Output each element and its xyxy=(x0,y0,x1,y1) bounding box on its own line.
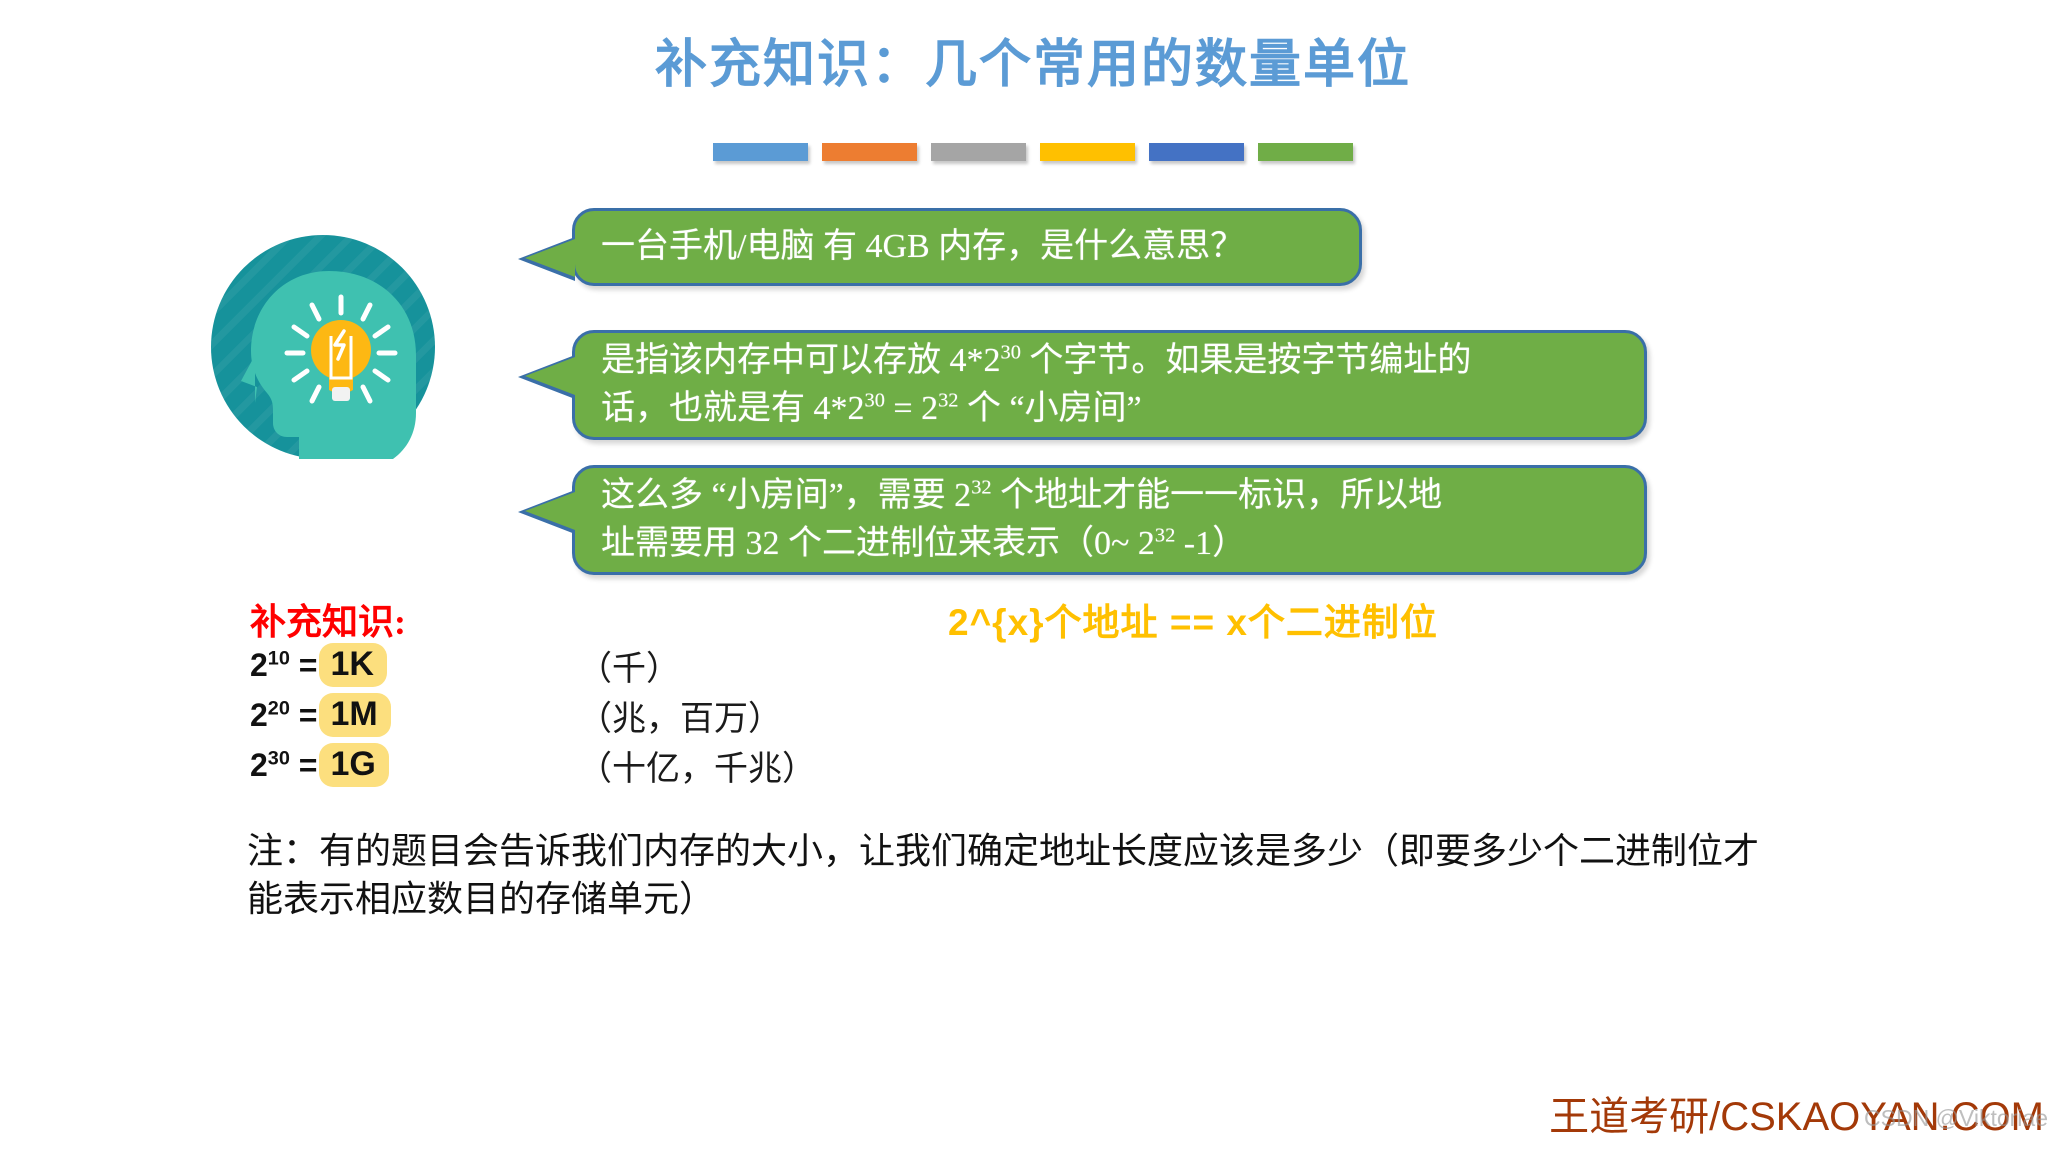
bubble-tail-fill xyxy=(525,239,575,277)
title-bar-orange xyxy=(822,143,917,161)
speech-bubble-answer-2: 这么多 “小房间”，需要 232 个地址才能一一标识，所以地 址需要用 32 个… xyxy=(572,465,1647,575)
power-value-highlighted: 1M xyxy=(319,693,390,737)
power-note: （兆，百万） xyxy=(578,691,782,740)
speech-bubble-answer-1: 是指该内存中可以存放 4*230 个字节。如果是按字节编址的 话，也就是有 4*… xyxy=(572,330,1647,440)
bubble-3-line-1: 这么多 “小房间”，需要 232 个地址才能一一标识，所以地 xyxy=(601,472,1622,520)
bubble-3-line-2-exponent: 32 xyxy=(1155,525,1175,547)
bubble-2-line-2-part-a: 话，也就是有 4*2 xyxy=(601,390,865,427)
power-equals: = xyxy=(290,697,318,733)
bubble-2-line-1-part-b: 个字节。如果是按字节编址的 xyxy=(1021,342,1472,379)
bubble-tail-fill xyxy=(525,357,575,395)
power-base: 2 xyxy=(250,747,268,783)
speech-bubble-question: 一台手机/电脑 有 4GB 内存，是什么意思？ xyxy=(572,208,1362,286)
bubble-2-line-2-exponent-1: 30 xyxy=(865,390,885,412)
address-bits-formula: 2^{x}个地址 == x个二进制位 xyxy=(948,592,1438,646)
power-exponent: 30 xyxy=(268,747,290,769)
title-bar-green xyxy=(1258,143,1353,161)
bubble-2-line-1: 是指该内存中可以存放 4*230 个字节。如果是按字节编址的 xyxy=(601,337,1622,385)
bubble-3-line-1-exponent: 32 xyxy=(971,476,991,498)
bubble-3-line-2-part-a: 址需要用 32 个二进制位来表示（0~ 2 xyxy=(601,525,1155,562)
bubble-2-line-2: 话，也就是有 4*230 = 232 个 “小房间” xyxy=(601,385,1622,433)
title-decorative-bars xyxy=(713,143,1353,161)
bubble-2-line-2-exponent-2: 32 xyxy=(938,390,958,412)
bottom-note-text: 注：有的题目会告诉我们内存的大小，让我们确定地址长度应该是多少（即要多少个二进制… xyxy=(247,828,1767,923)
power-expression: 210 = xyxy=(250,647,317,684)
bubble-2-line-1-part-a: 是指该内存中可以存放 4*2 xyxy=(601,342,1001,379)
power-exponent: 10 xyxy=(268,647,290,669)
power-of-two-list: 210 = 1K （千） 220 = 1M （兆，百万） 230 = 1G （十… xyxy=(250,640,950,790)
title-bar-yellow xyxy=(1040,143,1135,161)
bubble-tail-fill xyxy=(525,492,575,530)
title-bar-gray xyxy=(931,143,1026,161)
power-base: 2 xyxy=(250,647,268,683)
bubble-2-line-1-exponent: 30 xyxy=(1001,341,1021,363)
head-silhouette-svg xyxy=(211,235,435,459)
power-row: 210 = 1K （千） xyxy=(250,640,950,690)
bubble-3-line-2-part-b: -1） xyxy=(1175,525,1246,562)
power-equals: = xyxy=(290,747,318,783)
title-bar-blue xyxy=(713,143,808,161)
power-expression: 230 = xyxy=(250,747,317,784)
supplement-heading: 补充知识: xyxy=(250,593,406,645)
bubble-2-line-2-part-b: = 2 xyxy=(885,390,938,427)
bubble-3-line-1-part-b: 个地址才能一一标识，所以地 xyxy=(992,477,1443,514)
power-row: 220 = 1M （兆，百万） xyxy=(250,690,950,740)
nose-shape xyxy=(241,355,257,403)
power-base: 2 xyxy=(250,697,268,733)
power-note: （十亿，千兆） xyxy=(578,741,816,790)
power-equals: = xyxy=(290,647,318,683)
footer-brand: 王道考研/CSKAOYAN.COM xyxy=(1549,1084,2044,1142)
head-with-lightbulb-icon xyxy=(211,235,435,459)
bulb-base xyxy=(332,387,350,401)
power-value-highlighted: 1G xyxy=(319,743,388,787)
bubble-2-line-2-part-c: 个 “小房间” xyxy=(958,390,1141,427)
bubble-3-line-1-part-a: 这么多 “小房间”，需要 2 xyxy=(601,477,971,514)
power-row: 230 = 1G （十亿，千兆） xyxy=(250,740,950,790)
power-expression: 220 = xyxy=(250,697,317,734)
power-value-highlighted: 1K xyxy=(319,643,386,687)
bubble-3-line-2: 址需要用 32 个二进制位来表示（0~ 232 -1） xyxy=(601,520,1622,568)
page-title: 补充知识：几个常用的数量单位 xyxy=(0,36,2066,96)
bubble-1-text: 一台手机/电脑 有 4GB 内存，是什么意思？ xyxy=(601,223,1337,271)
power-exponent: 20 xyxy=(268,697,290,719)
power-note: （千） xyxy=(578,641,680,690)
title-bar-darkblue xyxy=(1149,143,1244,161)
